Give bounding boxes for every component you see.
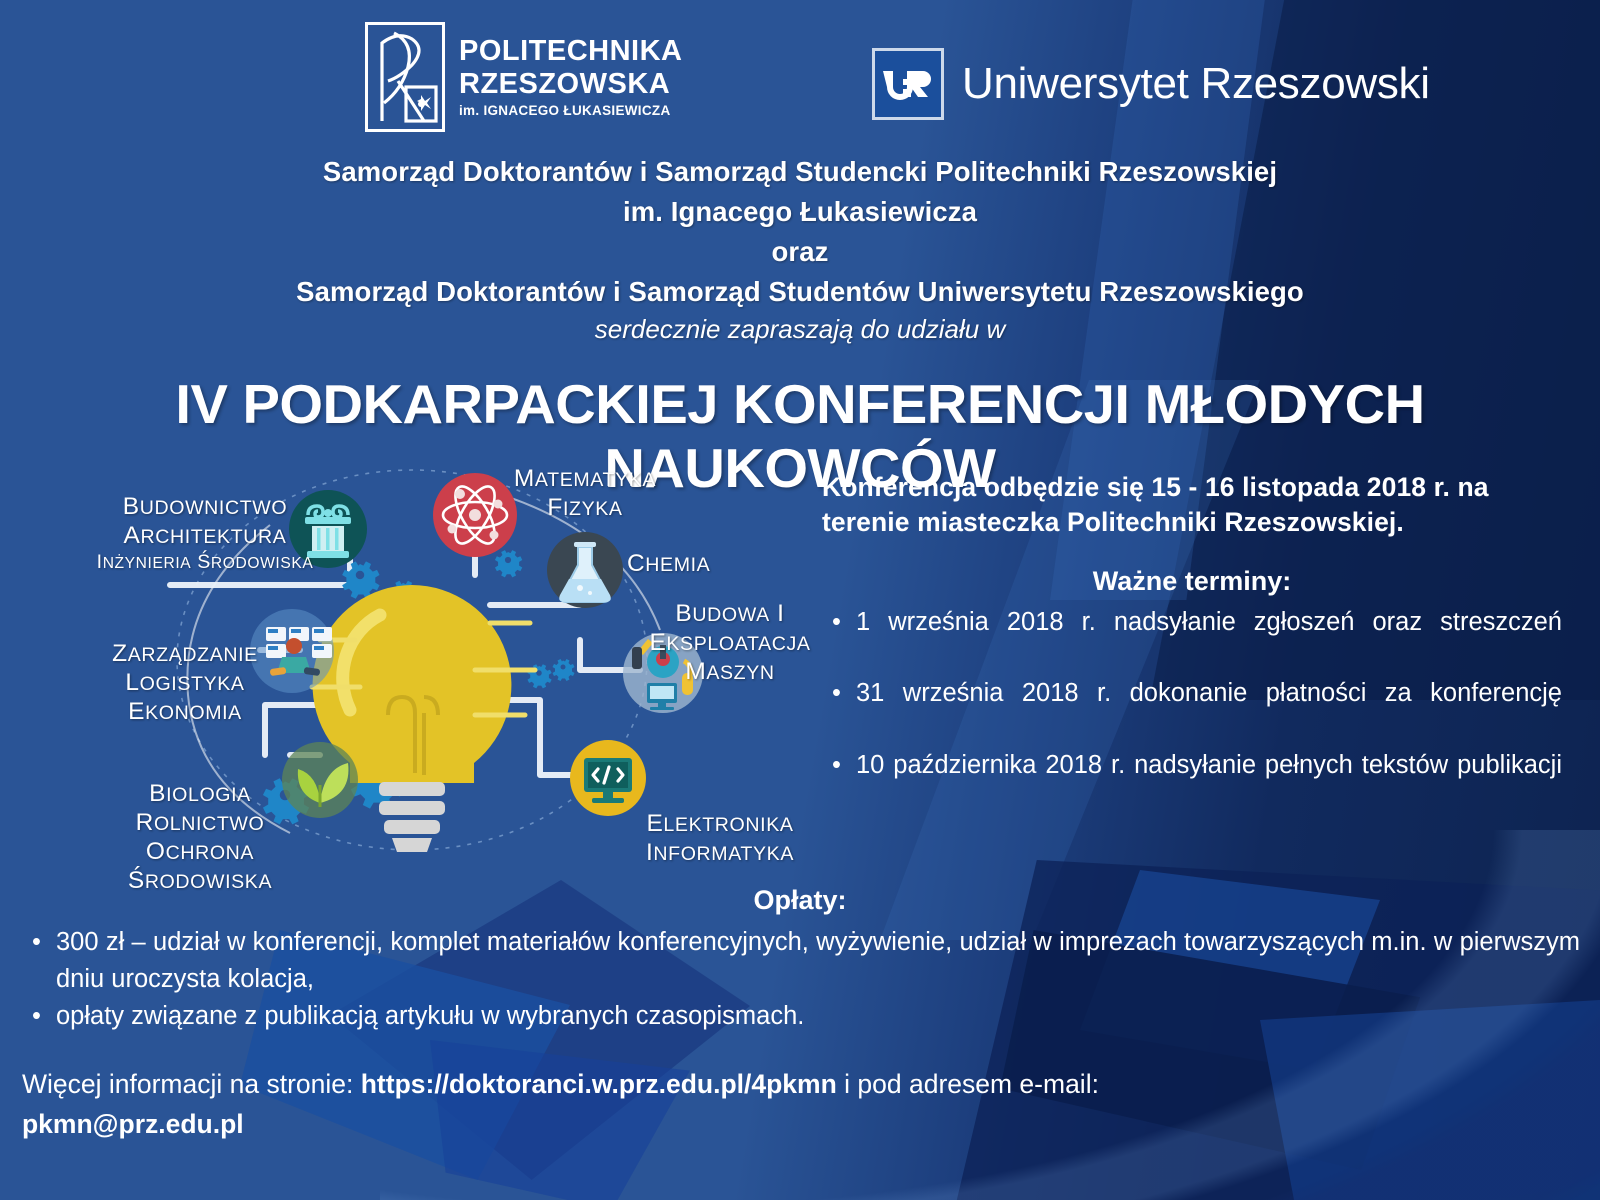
- fees-title: Opłaty:: [20, 885, 1580, 916]
- label-matematyka: MATEMATYKA FIZYKA: [485, 465, 685, 523]
- label-zarzadzanie-line-3: EKONOMIA: [90, 698, 280, 727]
- contact-middle: i pod adresem e-mail:: [837, 1069, 1099, 1099]
- fees-list: • 300 zł – udział w konferencji, komplet…: [20, 924, 1580, 1035]
- label-chemia: CHEMIA: [627, 550, 827, 579]
- bullet-glyph: •: [832, 748, 841, 783]
- contact-prefix: Więcej informacji na stronie:: [22, 1069, 361, 1099]
- label-budownictwo-line-1: BUDOWNICTWO: [80, 493, 330, 522]
- label-matematyka-line-1: MATEMATYKA: [485, 465, 685, 494]
- label-maszyny-line-3: MASZYN: [640, 658, 820, 687]
- ur-name: Uniwersytet Rzeszowski: [962, 59, 1430, 109]
- label-budownictwo-line-2: ARCHITEKTURA: [80, 522, 330, 551]
- contact-line: Więcej informacji na stronie: https://do…: [22, 1065, 1582, 1145]
- fee-text: 300 zł – udział w konferencji, komplet m…: [56, 928, 1580, 993]
- label-biologia-line-2: ROLNICTWO: [75, 809, 325, 838]
- intro-line-5: serdecznie zapraszają do udziału w: [0, 314, 1600, 345]
- bullet-glyph: •: [32, 998, 41, 1035]
- code-monitor-icon: [570, 740, 646, 816]
- label-zarzadzanie-line-1: ZARZĄDZANIE: [90, 640, 280, 669]
- flask-icon: [547, 532, 623, 608]
- contact-email-link[interactable]: pkmn@prz.edu.pl: [22, 1105, 1582, 1145]
- deadline-text: 31 września 2018 r. dokonanie płatności …: [856, 679, 1562, 707]
- prz-name-line-1: POLITECHNIKA: [459, 37, 683, 66]
- bullet-glyph: •: [32, 924, 41, 961]
- bullet-glyph: •: [832, 605, 841, 640]
- prz-name-line-2: RZESZOWSKA: [459, 70, 683, 99]
- politechnika-rzeszowska-logo: POLITECHNIKA RZESZOWSKA im. IGNACEGO ŁUK…: [365, 22, 683, 132]
- prz-emblem-icon: [365, 22, 445, 132]
- details-panel: Konferencja odbędzie się 15 - 16 listopa…: [822, 470, 1562, 819]
- label-budownictwo-line-3: INŻYNIERIA ŚRODOWISKA: [80, 551, 330, 574]
- prz-name-line-3: im. IGNACEGO ŁUKASIEWICZA: [459, 104, 683, 118]
- deadline-text: 10 października 2018 r. nadsyłanie pełny…: [856, 751, 1562, 779]
- fee-item: • 300 zł – udział w konferencji, komplet…: [20, 924, 1580, 998]
- intro-line-1: Samorząd Doktorantów i Samorząd Studenck…: [0, 152, 1600, 192]
- label-elektronika-line-2: INFORMATYKA: [625, 839, 815, 868]
- deadlines-list: • 1 września 2018 r. nadsyłanie zgłoszeń…: [822, 605, 1562, 817]
- label-elektronika-line-1: ELEKTRONIKA: [625, 810, 815, 839]
- label-budownictwo: BUDOWNICTWO ARCHITEKTURA INŻYNIERIA ŚROD…: [80, 493, 330, 574]
- intro-line-4: Samorząd Doktorantów i Samorząd Studentó…: [0, 272, 1600, 312]
- deadlines-title: Ważne terminy:: [822, 566, 1562, 597]
- intro-line-3: oraz: [0, 232, 1600, 272]
- uniwersytet-rzeszowski-logo: Uniwersytet Rzeszowski: [872, 48, 1430, 120]
- label-biologia: BIOLOGIA ROLNICTWO OCHRONA ŚRODOWISKA: [75, 780, 325, 896]
- fee-item: • opłaty związane z publikacją artykułu …: [20, 998, 1580, 1035]
- fee-text: opłaty związane z publikacją artykułu w …: [56, 1002, 804, 1030]
- fees-panel: Opłaty: • 300 zł – udział w konferencji,…: [20, 885, 1580, 1035]
- lightbulb-icon: [312, 585, 535, 852]
- label-matematyka-line-2: FIZYKA: [485, 494, 685, 523]
- deadline-item: • 31 września 2018 r. dokonanie płatnośc…: [822, 676, 1562, 745]
- label-chemia-line-1: CHEMIA: [627, 550, 827, 579]
- conference-poster: POLITECHNIKA RZESZOWSKA im. IGNACEGO ŁUK…: [0, 0, 1600, 1200]
- deadline-item: • 10 października 2018 r. nadsyłanie peł…: [822, 748, 1562, 817]
- label-zarzadzanie: ZARZĄDZANIE LOGISTYKA EKONOMIA: [90, 640, 280, 727]
- label-maszyny: BUDOWA I EKSPLOATACJA MASZYN: [640, 600, 820, 687]
- label-zarzadzanie-line-2: LOGISTYKA: [90, 669, 280, 698]
- label-maszyny-line-2: EKSPLOATACJA: [640, 629, 820, 658]
- ur-monogram-icon: [872, 48, 944, 120]
- label-biologia-line-1: BIOLOGIA: [75, 780, 325, 809]
- deadline-text: 1 września 2018 r. nadsyłanie zgłoszeń o…: [856, 608, 1562, 636]
- when-where-text: Konferencja odbędzie się 15 - 16 listopa…: [822, 470, 1562, 540]
- intro-line-2: im. Ignacego Łukasiewicza: [0, 192, 1600, 232]
- disciplines-infographic: BUDOWNICTWO ARCHITEKTURA INŻYNIERIA ŚROD…: [20, 455, 820, 875]
- label-maszyny-line-1: BUDOWA I: [640, 600, 820, 629]
- deadline-item: • 1 września 2018 r. nadsyłanie zgłoszeń…: [822, 605, 1562, 674]
- label-elektronika: ELEKTRONIKA INFORMATYKA: [625, 810, 815, 868]
- logo-bar: POLITECHNIKA RZESZOWSKA im. IGNACEGO ŁUK…: [0, 14, 1600, 144]
- intro-block: Samorząd Doktorantów i Samorząd Studenck…: [0, 152, 1600, 345]
- conference-website-link[interactable]: https://doktoranci.w.prz.edu.pl/4pkmn: [361, 1069, 837, 1099]
- bullet-glyph: •: [832, 676, 841, 711]
